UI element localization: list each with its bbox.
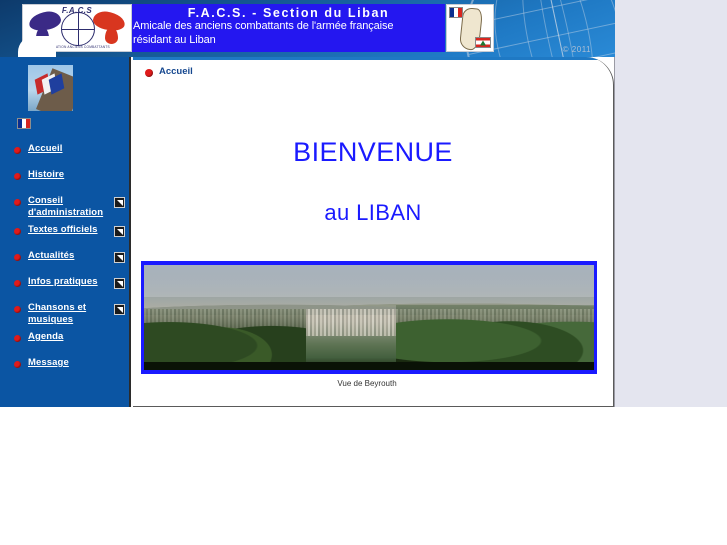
- photo-caption: Vue de Beyrouth: [133, 379, 601, 388]
- site-title-band: F.A.C.S. - Section du Liban Amicale des …: [132, 4, 445, 52]
- main-content-panel: Accueil BIENVENUE au LIBAN Vue de Beyrou…: [133, 57, 614, 407]
- sidebar-item-chansons-et-musiques[interactable]: Chansons et musiques: [0, 302, 131, 325]
- bullet-icon: [14, 280, 21, 287]
- bullet-icon: [14, 228, 21, 235]
- french-flag-icon: [17, 118, 31, 129]
- bullet-icon: [14, 361, 21, 368]
- bullet-icon: [14, 173, 21, 180]
- sidebar-item-label: Histoire: [28, 169, 125, 181]
- sidebar-item-accueil[interactable]: Accueil: [0, 143, 131, 163]
- lebanese-flag-icon: [475, 37, 491, 48]
- expand-submenu-icon[interactable]: [114, 252, 125, 263]
- sidebar-item-histoire[interactable]: Histoire: [0, 169, 131, 189]
- sidebar-item-label: Conseil d'administration: [28, 195, 110, 218]
- page-root: F.A.C.S FEDERATION ANCIENS COMBATTANTS F…: [0, 0, 727, 545]
- sidebar-item-conseil-administration[interactable]: Conseil d'administration: [0, 195, 131, 218]
- right-filler-panel: [615, 0, 727, 407]
- sidebar-menu: Accueil Histoire Conseil d'administratio…: [0, 143, 131, 383]
- expand-submenu-icon[interactable]: [114, 304, 125, 315]
- content-top-strip: [133, 57, 614, 60]
- header-corner-notch: [18, 36, 56, 57]
- bullet-icon: [145, 69, 153, 77]
- logo-drop-right-shape: [105, 27, 118, 44]
- site-subtitle-line1: Amicale des anciens combattants de l'arm…: [132, 20, 445, 34]
- sidebar-item-actualites[interactable]: Actualités: [0, 250, 131, 270]
- expand-submenu-icon[interactable]: [114, 278, 125, 289]
- lebanon-map-icon: [446, 4, 494, 52]
- french-flags-photo: [28, 65, 73, 111]
- expand-submenu-icon[interactable]: [114, 226, 125, 237]
- sidebar-item-label: Chansons et musiques: [28, 302, 110, 325]
- sidebar-item-label: Infos pratiques: [28, 276, 110, 288]
- copyright-text: © 2011: [563, 45, 591, 54]
- sidebar-nav: Accueil Histoire Conseil d'administratio…: [0, 57, 131, 407]
- breadcrumb[interactable]: Accueil: [145, 66, 193, 77]
- site-subtitle-line2: résidant au Liban: [132, 34, 445, 48]
- panel-divider-line: [614, 0, 615, 407]
- site-header: F.A.C.S FEDERATION ANCIENS COMBATTANTS F…: [0, 0, 615, 57]
- sidebar-item-agenda[interactable]: Agenda: [0, 331, 131, 351]
- bullet-icon: [14, 254, 21, 261]
- sidebar-item-textes-officiels[interactable]: Textes officiels: [0, 224, 131, 244]
- sidebar-item-infos-pratiques[interactable]: Infos pratiques: [0, 276, 131, 296]
- sidebar-item-label: Actualités: [28, 250, 110, 262]
- beirut-panorama-frame: [141, 261, 597, 374]
- sidebar-item-message[interactable]: Message: [0, 357, 131, 377]
- logo-acronym: F.A.C.S: [23, 6, 131, 15]
- page-title: BIENVENUE: [133, 137, 613, 168]
- bullet-icon: [14, 147, 21, 154]
- bullet-icon: [14, 335, 21, 342]
- sidebar-item-label: Agenda: [28, 331, 125, 343]
- expand-submenu-icon[interactable]: [114, 197, 125, 208]
- sidebar-item-label: Textes officiels: [28, 224, 110, 236]
- logo-globe-icon: [61, 12, 95, 46]
- french-flag-icon: [449, 7, 463, 18]
- site-title: F.A.C.S. - Section du Liban: [132, 6, 445, 20]
- bullet-icon: [14, 199, 21, 206]
- beirut-panorama-photo: [144, 265, 594, 370]
- breadcrumb-label: Accueil: [159, 66, 193, 77]
- sidebar-item-label: Accueil: [28, 143, 125, 155]
- bullet-icon: [14, 306, 21, 313]
- page-subtitle: au LIBAN: [133, 200, 613, 226]
- sidebar-item-label: Message: [28, 357, 125, 369]
